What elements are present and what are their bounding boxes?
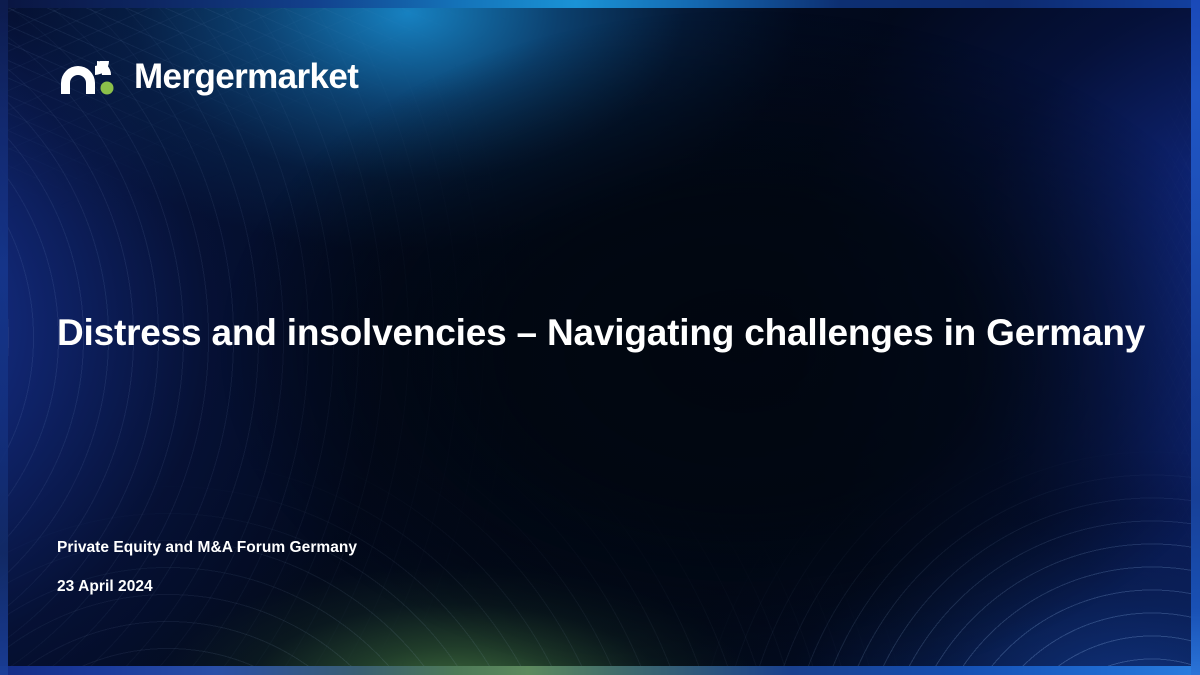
green-dot-icon — [101, 82, 114, 95]
edge-strip-top — [0, 0, 1200, 8]
mergermarket-arch-icon — [57, 54, 121, 98]
edge-strip-left — [0, 0, 8, 675]
mergermarket-wordmark: Mergermarket — [134, 59, 358, 94]
edge-strip-bottom — [0, 666, 1200, 675]
edge-strip-right — [1191, 0, 1200, 675]
slide-title: Distress and insolvencies – Navigating c… — [57, 311, 1127, 355]
title-slide: Mergermarket Distress and insolvencies –… — [0, 0, 1200, 675]
mesh-pattern-bottom — [0, 661, 1200, 675]
slide-footer: Private Equity and M&A Forum Germany 23 … — [57, 540, 357, 594]
mergermarket-logo: Mergermarket — [57, 48, 358, 104]
footer-date: 23 April 2024 — [57, 579, 357, 595]
footer-event-name: Private Equity and M&A Forum Germany — [57, 540, 357, 556]
